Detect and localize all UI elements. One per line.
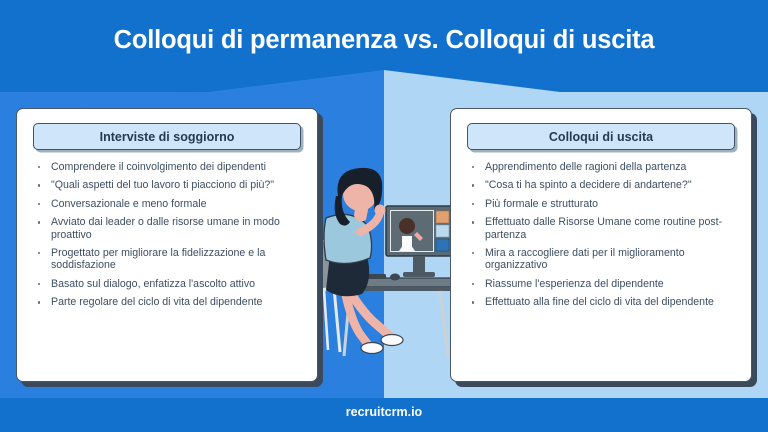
card-left-header: Interviste di soggiorno [33,123,301,150]
list-item: "Cosa ti ha spinto a decidere di andarte… [465,179,741,191]
list-item: Apprendimento delle ragioni della parten… [465,161,741,173]
list-item: Conversazionale e meno formale [31,198,307,210]
list-item: Effettuato dalle Risorse Umane come rout… [465,216,741,241]
list-item: Riassume l'esperienza del dipendente [465,278,741,290]
list-item: Mira a raccogliere dati per il miglioram… [465,247,741,272]
list-item: Comprendere il coinvolgimento dei dipend… [31,161,307,173]
list-item: Più formale e strutturato [465,198,741,210]
footer-brand: recruitcrm.io [0,405,768,419]
card-right-bullet-list: Apprendimento delle ragioni della parten… [465,161,741,315]
slide-root: Colloqui di permanenza vs. Colloqui di u… [0,0,768,432]
list-item: Parte regolare del ciclo di vita del dip… [31,296,307,308]
list-item: Avviato dai leader o dalle risorse umane… [31,216,307,241]
list-item: Progettato per migliorare la fidelizzazi… [31,247,307,272]
list-item: "Quali aspetti del tuo lavoro ti piaccio… [31,179,307,191]
card-exit-interviews: Colloqui di uscita Apprendimento delle r… [450,108,752,382]
card-stay-interviews: Interviste di soggiorno Comprendere il c… [16,108,318,382]
card-right-header: Colloqui di uscita [467,123,735,150]
list-item: Effettuato alla fine del ciclo di vita d… [465,296,741,308]
card-left-bullet-list: Comprendere il coinvolgimento dei dipend… [31,161,307,315]
list-item: Basato sul dialogo, enfatizza l'ascolto … [31,278,307,290]
page-title: Colloqui di permanenza vs. Colloqui di u… [0,26,768,55]
